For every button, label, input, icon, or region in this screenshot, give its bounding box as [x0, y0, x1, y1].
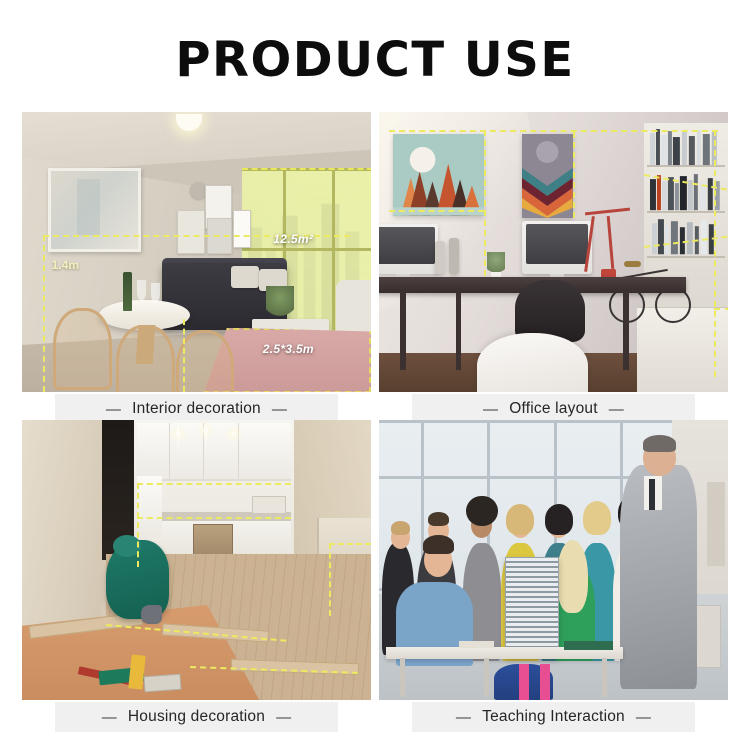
- desk-leg: [602, 658, 607, 697]
- student-hair: [583, 501, 611, 535]
- student-hair: [506, 504, 534, 535]
- caption-housing-decoration: — Housing decoration —: [55, 702, 338, 732]
- student-hair: [423, 535, 454, 555]
- caption-wrap-interior-decoration: — Interior decoration —: [22, 392, 371, 420]
- caption-teaching-interaction: — Teaching Interaction —: [412, 702, 695, 732]
- worker-shoe: [141, 605, 162, 625]
- coat-rack: [707, 482, 724, 566]
- imac-monitor-right: [522, 221, 592, 274]
- caption-dash-right: —: [609, 401, 624, 418]
- backpack-strap: [519, 664, 529, 700]
- student-hair-afro: [466, 496, 497, 527]
- panel-photo-housing-decoration: [22, 420, 371, 700]
- cabinet-divider: [169, 423, 170, 479]
- wine-glass: [151, 283, 160, 303]
- pendant-cord: [177, 426, 179, 451]
- wall-clock: [190, 182, 207, 199]
- worker-head: [113, 535, 141, 557]
- wine-glass: [137, 280, 146, 300]
- dining-chair: [53, 308, 111, 390]
- caption-wrap-housing-decoration: — Housing decoration —: [22, 700, 371, 728]
- upper-cabinets: [137, 423, 291, 481]
- mountain-landscape-poster: [393, 134, 484, 215]
- white-chair-foreground: [477, 333, 589, 392]
- notebook: [459, 641, 494, 648]
- caption-dash-left: —: [106, 401, 121, 418]
- caption-label: Interior decoration: [132, 400, 261, 418]
- caption-dash-right: —: [636, 709, 651, 726]
- caption-dash-right: —: [276, 709, 291, 726]
- backpack-strap: [540, 664, 550, 700]
- dining-chair: [176, 330, 234, 392]
- measure-label-height: 1.4m: [52, 258, 79, 272]
- dining-chair: [116, 325, 174, 392]
- monitor-screen: [379, 227, 435, 264]
- caption-dash-left: —: [483, 401, 498, 418]
- refrigerator: [137, 476, 161, 538]
- picture-frame: [207, 218, 232, 254]
- model-base: [564, 641, 613, 649]
- panel-photo-office-layout: [379, 112, 728, 392]
- student-hair-long: [557, 540, 588, 613]
- picture-frame: [177, 210, 205, 254]
- housing-decoration-scene: [22, 420, 371, 700]
- teacher-hair: [643, 435, 676, 452]
- product-use-page: PRODUCT USE: [0, 0, 750, 750]
- tape-measure: [144, 674, 182, 693]
- panel-photo-teaching-interaction: [379, 420, 728, 700]
- caption-label: Teaching Interaction: [482, 708, 625, 726]
- bicycle-seat: [624, 261, 641, 267]
- student-hair: [428, 512, 449, 526]
- caption-wrap-teaching-interaction: — Teaching Interaction —: [379, 700, 728, 728]
- cabinet-divider: [238, 423, 239, 479]
- monitor-screen: [526, 224, 589, 263]
- interior-decoration-scene: 1.4m 12.5m² 2.5*3.5m: [22, 112, 371, 392]
- caption-dash-left: —: [102, 709, 117, 726]
- architectural-building-model: [505, 557, 559, 657]
- plant: [266, 286, 294, 320]
- desk-leg: [484, 658, 489, 697]
- desk-leg: [400, 291, 406, 369]
- caption-label: Office layout: [509, 400, 597, 418]
- caption-wrap-office-layout: — Office layout —: [379, 392, 728, 420]
- measure-label-rug: 2.5*3.5m: [263, 342, 314, 356]
- caption-label: Housing decoration: [128, 708, 265, 726]
- office-layout-scene: [379, 112, 728, 392]
- teaching-interaction-scene: [379, 420, 728, 700]
- desk-leg: [456, 291, 462, 369]
- imac-monitor-left: [379, 224, 438, 274]
- bicycle-wheel: [655, 287, 691, 323]
- caption-dash-right: —: [272, 401, 287, 418]
- product-use-grid: 1.4m 12.5m² 2.5*3.5m: [22, 112, 728, 702]
- microwave: [252, 496, 285, 515]
- wine-bottle: [123, 272, 132, 311]
- desk-organizer: [435, 241, 445, 275]
- page-title: PRODUCT USE: [0, 36, 750, 84]
- pendant-cord: [205, 426, 207, 451]
- desk-organizer: [449, 238, 459, 274]
- desk-leg: [400, 658, 405, 697]
- chevron-poster: [522, 134, 573, 218]
- student-hair: [545, 504, 573, 535]
- cushion: [231, 266, 259, 288]
- panel-photo-interior-decoration: 1.4m 12.5m² 2.5*3.5m: [22, 112, 371, 392]
- caption-dash-left: —: [456, 709, 471, 726]
- wall-mirror: [48, 168, 141, 252]
- left-wall: [22, 420, 102, 627]
- picture-frame: [233, 210, 251, 248]
- teacher-tie: [649, 479, 655, 510]
- student-hair: [391, 521, 410, 535]
- desk-leg: [623, 291, 629, 369]
- measure-label-area: 12.5m²: [273, 232, 313, 246]
